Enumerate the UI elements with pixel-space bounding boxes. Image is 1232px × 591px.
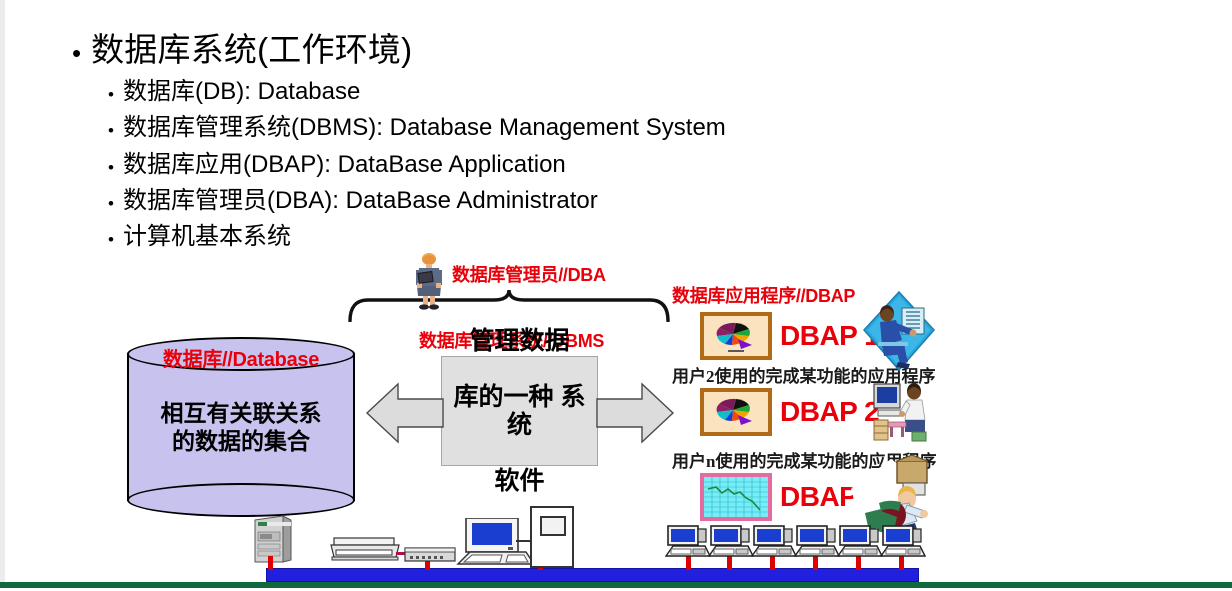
database-label: 数据库//Database xyxy=(127,343,355,372)
scope-brace-icon xyxy=(346,288,672,322)
cylinder-bottom-ellipse xyxy=(127,483,355,517)
dbap-title: 数据库应用程序//DBAP xyxy=(672,282,855,308)
dbms-line2: 库的一种 系统 xyxy=(442,383,597,439)
client-pc-icon xyxy=(665,525,711,559)
arrow-left-icon xyxy=(366,382,444,444)
client-pc-icon xyxy=(794,525,840,559)
client-pc-icon xyxy=(837,525,883,559)
client-pc-icon xyxy=(708,525,754,559)
slide-bottom-rule xyxy=(0,582,1232,588)
dba-person-figure-icon xyxy=(404,252,454,310)
database-description: 相互有关联关系 的数据的集合 xyxy=(127,399,355,455)
dbms-line3: 软件 xyxy=(442,467,597,495)
dbms-box: 管理数据 库的一种 系统 软件 xyxy=(441,356,598,466)
database-description-line2: 的数据的集合 xyxy=(172,428,310,454)
cabinet-slot xyxy=(540,516,566,536)
network-backbone-bar xyxy=(266,568,919,582)
desktop-computer-icon xyxy=(450,518,538,566)
client-pc-icon xyxy=(751,525,797,559)
person-at-desk-icon xyxy=(872,380,934,442)
arrow-right-icon xyxy=(596,382,674,444)
dba-label: 数据库管理员//DBA xyxy=(452,261,606,287)
dbms-line1: 管理数据 xyxy=(442,327,597,355)
pie-chart-icon xyxy=(700,312,772,360)
equipment-cabinet-icon xyxy=(530,506,574,568)
slide-canvas: • 数据库系统(工作环境) • 数据库(DB): Database • 数据库管… xyxy=(0,0,1232,591)
person-at-computer-icon xyxy=(862,290,936,372)
database-cylinder: 数据库//Database 相互有关联关系 的数据的集合 xyxy=(127,337,355,517)
network-hub-icon xyxy=(404,547,456,563)
pie-chart-icon xyxy=(700,388,772,436)
client-pc-icon xyxy=(880,525,926,559)
system-architecture-diagram: 数据库//Database 相互有关联关系 的数据的集合 xyxy=(0,0,1232,591)
database-description-line1: 相互有关联关系 xyxy=(161,400,322,426)
network-drop-line xyxy=(268,556,273,570)
dbap-name-2: DBAP 2 xyxy=(780,396,879,428)
dbap-row-2: DBAP 2 xyxy=(700,388,879,436)
server-tower-icon xyxy=(253,512,293,564)
line-chart-icon xyxy=(700,473,772,521)
dbap-row-1: DBAP 1 xyxy=(700,312,879,360)
printer-icon xyxy=(330,536,400,562)
